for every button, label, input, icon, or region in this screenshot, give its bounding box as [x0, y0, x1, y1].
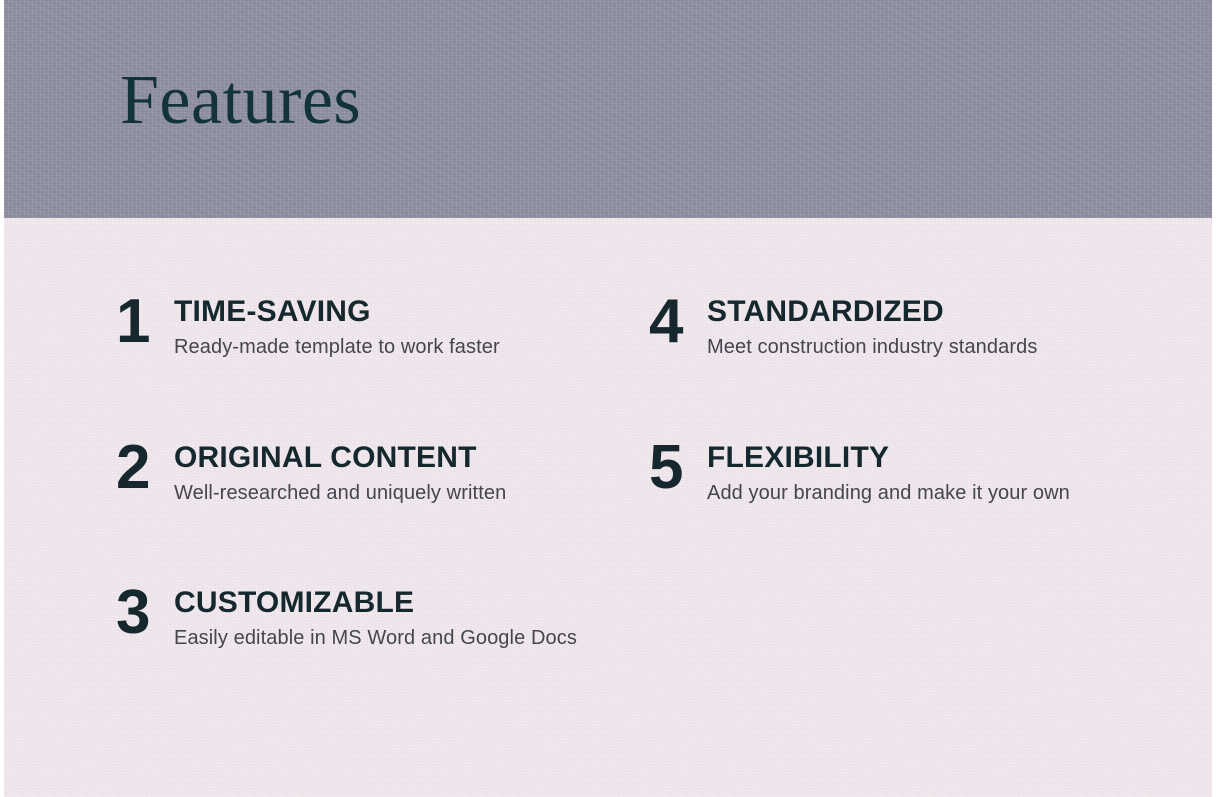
feature-item-3: 3 CUSTOMIZABLE Easily editable in MS Wor…	[116, 583, 577, 650]
feature-text-5: FLEXIBILITY Add your branding and make i…	[707, 438, 1070, 505]
feature-title-4: STANDARDIZED	[707, 296, 1037, 328]
feature-title-1: TIME-SAVING	[174, 296, 500, 328]
feature-item-5: 5 FLEXIBILITY Add your branding and make…	[649, 438, 1070, 505]
feature-list: 1 TIME-SAVING Ready-made template to wor…	[4, 218, 1212, 797]
feature-title-3: CUSTOMIZABLE	[174, 587, 577, 619]
feature-number-4: 4	[649, 292, 707, 352]
feature-title-5: FLEXIBILITY	[707, 442, 1070, 474]
feature-number-2: 2	[116, 438, 174, 498]
feature-number-5: 5	[649, 438, 707, 498]
feature-description-2: Well-researched and uniquely written	[174, 481, 506, 505]
slide-canvas: Features 1 TIME-SAVING Ready-made templa…	[0, 0, 1220, 797]
feature-description-4: Meet construction industry standards	[707, 335, 1037, 359]
feature-number-1: 1	[116, 292, 174, 352]
feature-description-5: Add your branding and make it your own	[707, 481, 1070, 505]
feature-text-3: CUSTOMIZABLE Easily editable in MS Word …	[174, 583, 577, 650]
page-title: Features	[120, 66, 361, 136]
feature-text-1: TIME-SAVING Ready-made template to work …	[174, 292, 500, 359]
feature-item-2: 2 ORIGINAL CONTENT Well-researched and u…	[116, 438, 506, 505]
feature-text-2: ORIGINAL CONTENT Well-researched and uni…	[174, 438, 506, 505]
feature-description-1: Ready-made template to work faster	[174, 335, 500, 359]
slide-background: Features 1 TIME-SAVING Ready-made templa…	[4, 0, 1212, 797]
feature-title-2: ORIGINAL CONTENT	[174, 442, 506, 474]
feature-number-3: 3	[116, 583, 174, 643]
feature-text-4: STANDARDIZED Meet construction industry …	[707, 292, 1037, 359]
header-band: Features	[4, 0, 1212, 218]
feature-description-3: Easily editable in MS Word and Google Do…	[174, 626, 577, 650]
feature-item-1: 1 TIME-SAVING Ready-made template to wor…	[116, 292, 500, 359]
feature-item-4: 4 STANDARDIZED Meet construction industr…	[649, 292, 1037, 359]
